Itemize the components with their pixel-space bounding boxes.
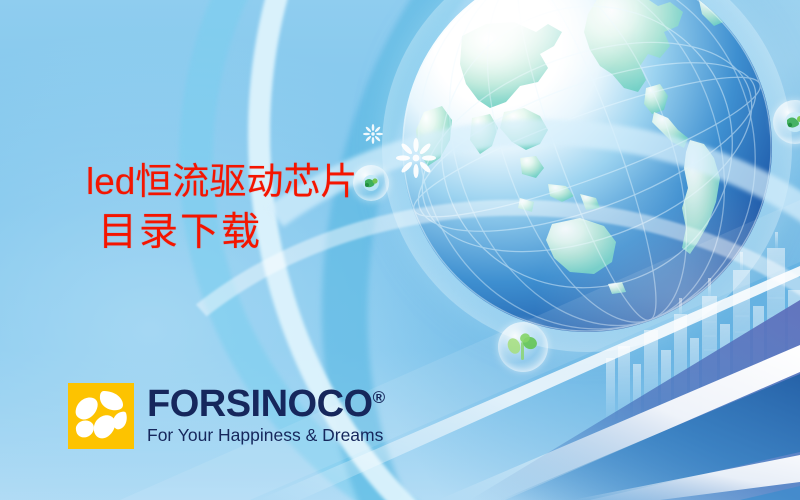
headline-line-1: led恒流驱动芯片 — [86, 163, 416, 200]
logo-wordmark: FORSINOCO® — [147, 385, 385, 423]
logo-text-block: FORSINOCO® For Your Happiness & Dreams — [147, 383, 385, 445]
headline-line-2: 目录下载 — [98, 213, 416, 252]
logo-tagline: For Your Happiness & Dreams — [147, 427, 385, 445]
logo-wordmark-text: FORSINOCO — [147, 383, 373, 425]
forsinoco-flower-mark-icon — [68, 383, 134, 449]
promo-banner: led恒流驱动芯片 目录下载 FORSINOCO® For Your Happi… — [0, 0, 800, 500]
registered-trademark-symbol: ® — [373, 388, 385, 407]
headline: led恒流驱动芯片 目录下载 — [86, 163, 416, 252]
flower-petals-icon — [68, 383, 134, 449]
company-logo[interactable]: FORSINOCO® For Your Happiness & Dreams — [68, 383, 385, 449]
